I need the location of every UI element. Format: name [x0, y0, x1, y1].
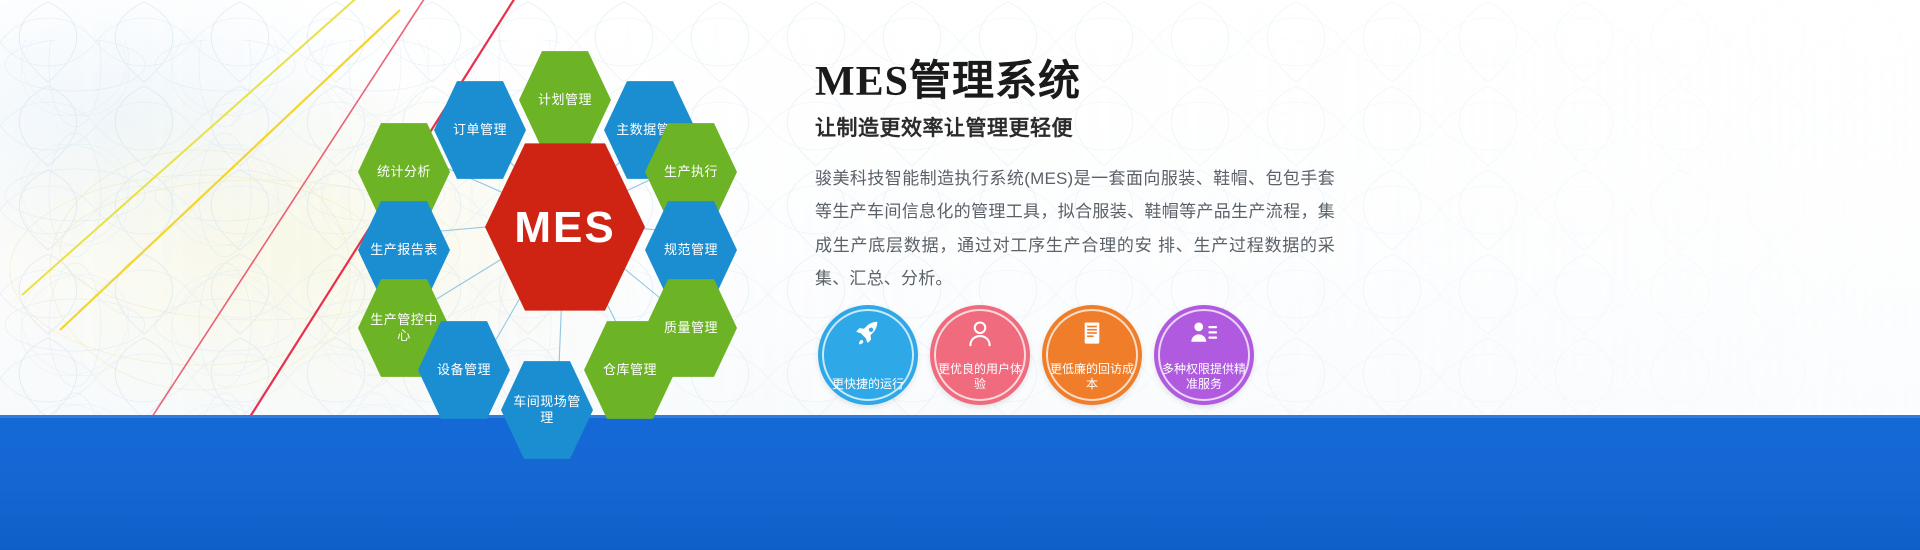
- hex-node-label: 规范管理: [658, 242, 724, 258]
- badge-better-user-experience[interactable]: 更优良的用户体验: [930, 305, 1030, 405]
- bottom-blue-band: [0, 415, 1920, 550]
- badge-label: 更优良的用户体验: [930, 362, 1030, 393]
- page-title: MES管理系统: [815, 58, 1335, 106]
- hex-node-label: 生产执行: [658, 164, 724, 180]
- hex-node-label: 统计分析: [371, 164, 437, 180]
- badge-multi-permission-service[interactable]: 多种权限提供精准服务: [1154, 305, 1254, 405]
- page-subtitle: 让制造更效率让管理更轻便: [815, 112, 1335, 142]
- hex-node-label: 生产报告表: [364, 242, 444, 258]
- badge-label: 多种权限提供精准服务: [1154, 362, 1254, 393]
- mes-banner: 计划管理 订单管理 主数据管理 生产执行 统计分析 规范管理 生产报告表 质量管…: [0, 0, 1920, 550]
- body-paragraph: 骏美科技智能制造执行系统(MES)是一套面向服装、鞋帽、包包手套等生产车间信息化…: [815, 162, 1335, 295]
- user-icon: [965, 318, 995, 348]
- feature-badge-row: 更快捷的运行 更优良的用户体验: [818, 305, 1258, 405]
- badge-faster-operation[interactable]: 更快捷的运行: [818, 305, 918, 405]
- hex-node-label: 计划管理: [532, 92, 598, 108]
- copy-block: MES管理系统 让制造更效率让管理更轻便 骏美科技智能制造执行系统(MES)是一…: [815, 58, 1335, 295]
- mes-hex-diagram: 计划管理 订单管理 主数据管理 生产执行 统计分析 规范管理 生产报告表 质量管…: [330, 20, 800, 430]
- hex-center-label: MES: [508, 200, 621, 255]
- hex-node-label: 车间现场管理: [501, 394, 593, 427]
- badge-lower-revisit-cost[interactable]: 更低廉的回访成本: [1042, 305, 1142, 405]
- hex-node-label: 质量管理: [658, 320, 724, 336]
- hex-node-label: 设备管理: [431, 362, 497, 378]
- user-list-icon: [1189, 318, 1219, 348]
- hex-node-label: 订单管理: [447, 122, 513, 138]
- badge-label: 更快捷的运行: [824, 377, 912, 393]
- hex-node-label: 仓库管理: [597, 362, 663, 378]
- badge-label: 更低廉的回访成本: [1042, 362, 1142, 393]
- document-icon: [1077, 318, 1107, 348]
- rocket-icon: [853, 318, 883, 348]
